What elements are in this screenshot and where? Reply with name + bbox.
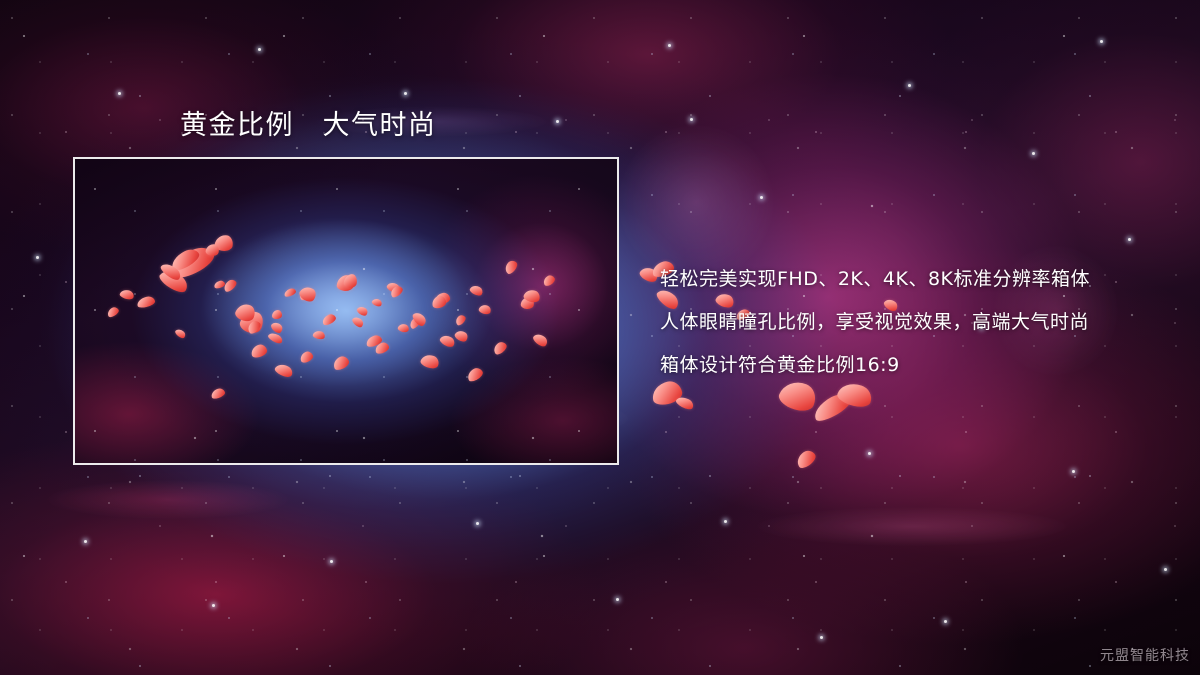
star-dot (476, 522, 479, 525)
framed-image-starfield (75, 159, 617, 463)
body-line: 轻松完美实现FHD、2K、4K、8K标准分辨率箱体 (660, 258, 1180, 301)
star-dot (690, 118, 693, 121)
presentation-slide: 黄金比例 大气时尚 轻松完美实现FHD、2K、4K、8K标准分辨率箱体 人体眼睛… (0, 0, 1200, 675)
rose-petal (794, 448, 818, 471)
star-dot (84, 540, 87, 543)
star-dot (944, 620, 947, 623)
watermark: 元盟智能科技 (1100, 645, 1190, 665)
star-dot (1164, 568, 1167, 571)
star-dot (820, 636, 823, 639)
star-dot (1072, 470, 1075, 473)
body-line: 人体眼睛瞳孔比例，享受视觉效果，高端大气时尚 (660, 301, 1180, 344)
star-dot (212, 604, 215, 607)
star-dot (404, 92, 407, 95)
star-dot (330, 560, 333, 563)
rose-petal (810, 390, 854, 425)
star-dot (668, 44, 671, 47)
star-dot (258, 48, 261, 51)
star-dot (1128, 238, 1131, 241)
star-dot (760, 196, 763, 199)
star-dot (556, 120, 559, 123)
star-dot (908, 84, 911, 87)
star-dot (868, 452, 871, 455)
framed-image (73, 157, 619, 465)
rose-petal (638, 264, 660, 284)
star-dot (1032, 152, 1035, 155)
body-line: 箱体设计符合黄金比例16:9 (660, 344, 1180, 387)
star-dot (118, 92, 121, 95)
page-title: 黄金比例 大气时尚 (180, 103, 437, 142)
star-dot (616, 598, 619, 601)
body-text-block: 轻松完美实现FHD、2K、4K、8K标准分辨率箱体 人体眼睛瞳孔比例，享受视觉效… (660, 258, 1180, 387)
star-dot (724, 520, 727, 523)
star-dot (1100, 40, 1103, 43)
rose-petal (675, 394, 696, 411)
star-dot (36, 256, 39, 259)
